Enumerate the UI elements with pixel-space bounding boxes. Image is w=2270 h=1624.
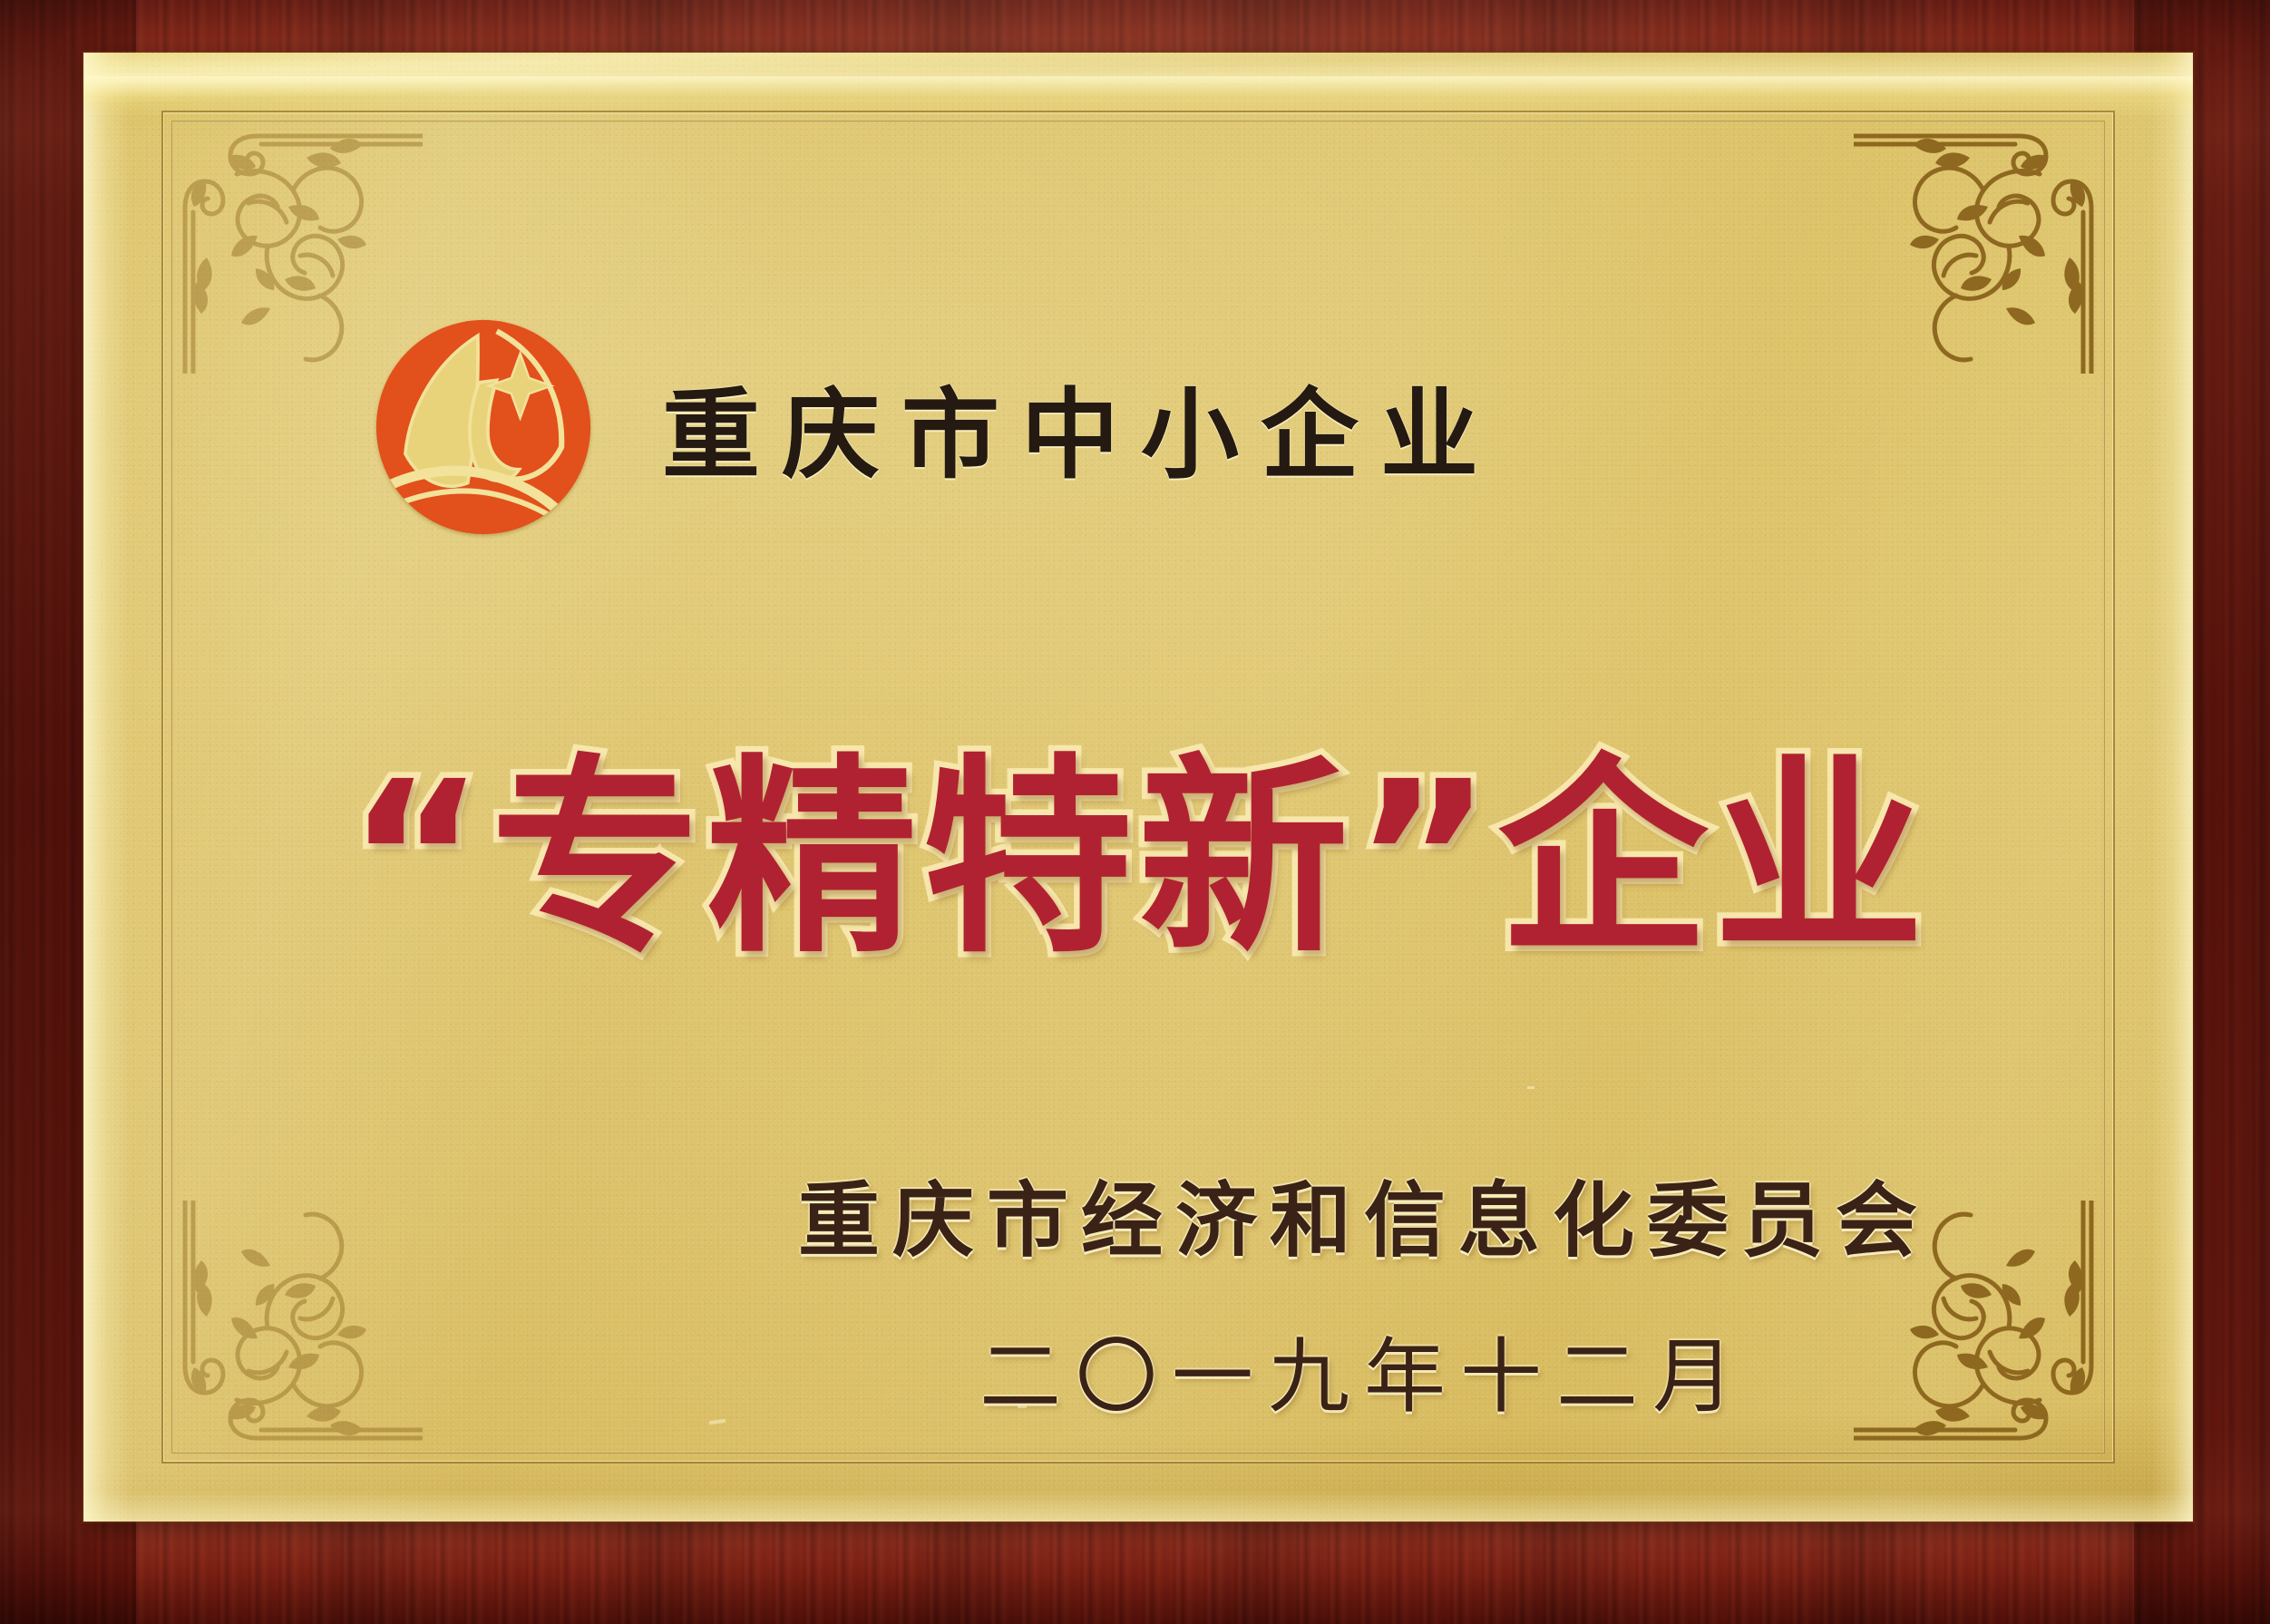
- organization-name: 重庆市中小企业: [662, 356, 1500, 498]
- award-plaque-frame: 重庆市中小企业 “专精特新”企业 重庆市经济和信息化委员会 二〇一九年十二月: [0, 0, 2270, 1624]
- corner-ornament-top-right-icon: [1854, 102, 2126, 374]
- plaque-header: 重庆市中小企业: [372, 316, 1500, 539]
- chongqing-sme-sailboat-logo-icon: [372, 316, 595, 539]
- surface-scuff: [1527, 1086, 1534, 1089]
- issuing-authority: 重庆市经济和信息化委员会: [798, 1154, 1930, 1272]
- surface-scuff: [709, 1419, 726, 1425]
- issue-date: 二〇一九年十二月: [798, 1310, 1930, 1428]
- corner-ornament-bottom-left-icon: [151, 1201, 423, 1473]
- issuer-block: 重庆市经济和信息化委员会 二〇一九年十二月: [798, 1154, 1930, 1428]
- gold-plate: 重庆市中小企业 “专精特新”企业 重庆市经济和信息化委员会 二〇一九年十二月: [83, 53, 2193, 1522]
- award-title: “专精特新”企业: [83, 687, 2193, 992]
